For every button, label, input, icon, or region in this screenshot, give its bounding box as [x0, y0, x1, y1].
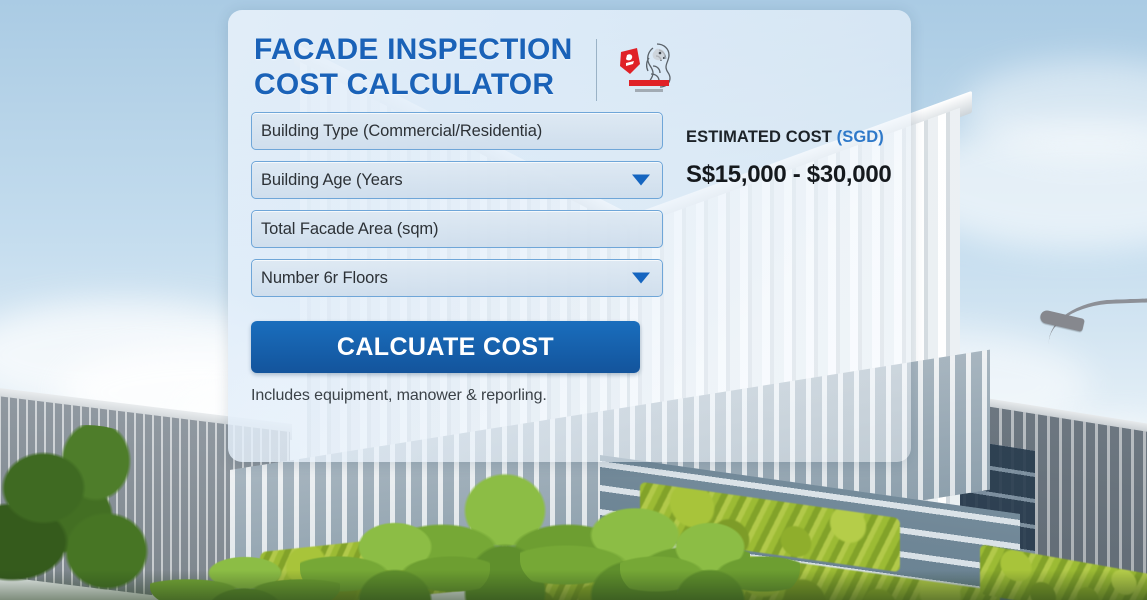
- card-header: FACADE INSPECTION COST CALCULATOR: [228, 10, 911, 104]
- number-of-floors-select[interactable]: Number 6r Floors: [251, 259, 663, 297]
- logo-divider: [596, 39, 597, 101]
- calculator-card: FACADE INSPECTION COST CALCULATOR: [228, 10, 911, 462]
- building-type-input[interactable]: Building Type (Commercial/Residentia): [251, 112, 663, 150]
- estimated-cost-text: ESTIMATED COST: [686, 128, 832, 146]
- building-age-label: Building Age (Years: [252, 171, 403, 190]
- foreground-shadow: [0, 570, 1147, 600]
- facade-area-input[interactable]: Total Facade Area (sqm): [251, 210, 663, 248]
- page-title: FACADE INSPECTION COST CALCULATOR: [254, 32, 572, 103]
- estimated-cost-label: ESTIMATED COST (SGD): [686, 128, 891, 147]
- currency-tag: (SGD): [837, 128, 884, 146]
- form-column: Building Type (Commercial/Residentia) Bu…: [228, 112, 663, 405]
- chevron-down-icon[interactable]: [632, 175, 650, 186]
- merlion-logo-icon: [613, 36, 677, 104]
- logo-wrap: [596, 36, 677, 104]
- number-of-floors-label: Number 6r Floors: [252, 269, 388, 288]
- card-body: Building Type (Commercial/Residentia) Bu…: [228, 104, 911, 405]
- inclusions-note: Includes equipment, manower & reporling.: [251, 387, 663, 405]
- building-type-label: Building Type (Commercial/Residentia): [252, 122, 542, 141]
- facade-area-label: Total Facade Area (sqm): [252, 220, 438, 239]
- merlion-logo: [613, 36, 677, 104]
- building-age-select[interactable]: Building Age (Years: [251, 161, 663, 199]
- screenshot-root: FACADE INSPECTION COST CALCULATOR: [0, 0, 1147, 600]
- chevron-down-icon[interactable]: [632, 273, 650, 284]
- result-column: ESTIMATED COST (SGD) S$15,000 - $30,000: [663, 112, 891, 405]
- estimated-cost-value: S$15,000 - $30,000: [686, 161, 891, 189]
- calculate-cost-button[interactable]: CALCUATE COST: [251, 321, 640, 373]
